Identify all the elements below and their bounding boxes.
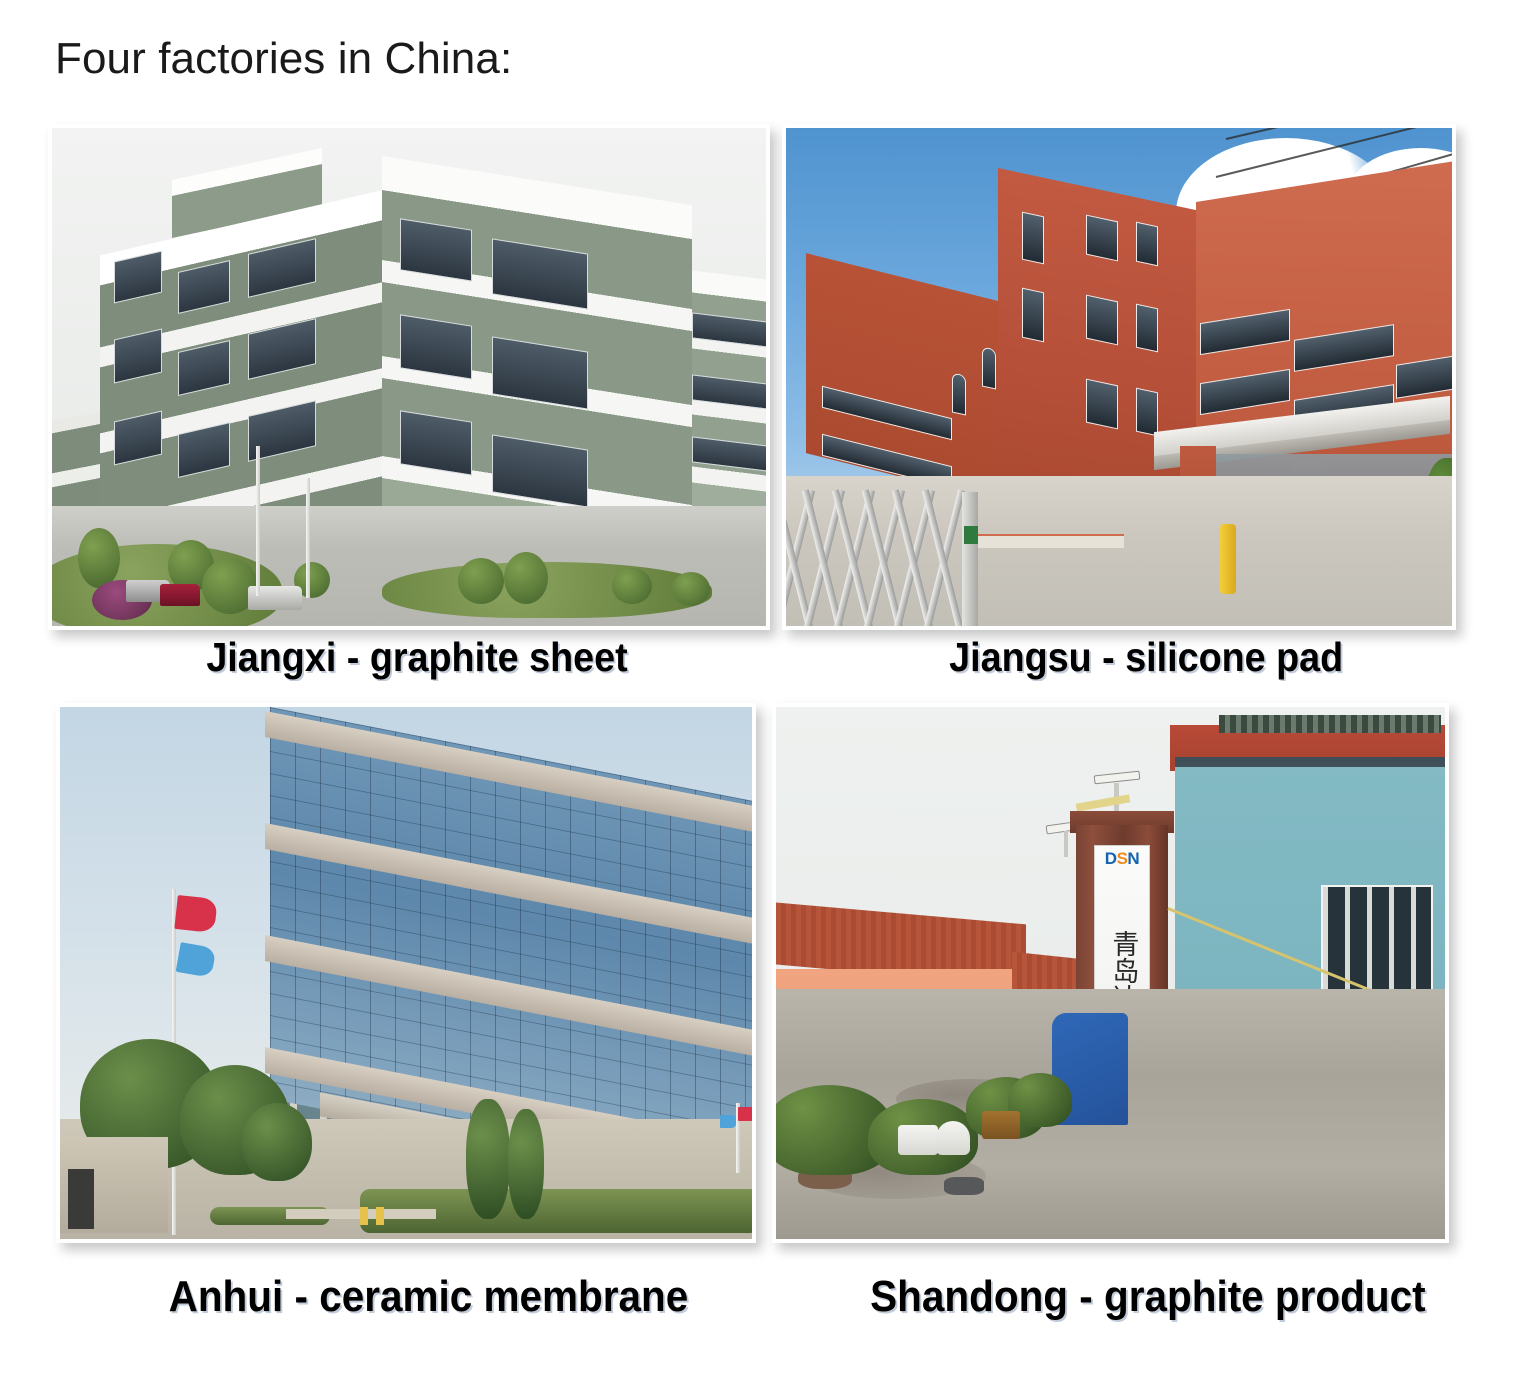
gate-post — [962, 492, 978, 626]
lamp-post — [306, 478, 310, 598]
flag-red — [738, 1107, 752, 1121]
window — [400, 314, 472, 379]
window — [1136, 304, 1158, 353]
photo-card-anhui[interactable] — [56, 703, 756, 1243]
photo-shandong: DSN 青岛达昇石墨制品 — [776, 707, 1445, 1239]
photo-anhui — [60, 707, 752, 1239]
page-title: Four factories in China: — [55, 34, 512, 84]
window — [1086, 215, 1118, 262]
white-barrel — [936, 1121, 970, 1155]
photo-card-jiangsu[interactable] — [782, 124, 1456, 630]
lamp-post — [256, 446, 260, 596]
logo-letter-d: D — [1105, 849, 1117, 868]
window — [1086, 379, 1118, 430]
debris — [944, 1177, 984, 1195]
roof-railing — [1219, 715, 1441, 733]
logo-letter-n: N — [1127, 849, 1139, 868]
caption-jiangxi: Jiangxi - graphite sheet — [206, 634, 627, 681]
caption-jiangsu: Jiangsu - silicone pad — [949, 634, 1343, 681]
caption-anhui: Anhui - ceramic membrane — [169, 1272, 689, 1322]
dsn-logo-icon: DSN — [1105, 850, 1139, 867]
caption-shandong: Shandong - graphite product — [870, 1272, 1425, 1322]
window — [400, 410, 472, 475]
photo-jiangxi — [52, 128, 766, 626]
retractable-gate — [786, 488, 976, 626]
photo-jiangsu — [786, 128, 1452, 626]
kerb — [978, 534, 1124, 548]
window — [1022, 288, 1044, 343]
window — [982, 347, 996, 390]
wall-opening — [68, 1169, 94, 1229]
window — [1136, 388, 1158, 437]
parked-car — [160, 584, 200, 606]
window — [1321, 885, 1433, 1005]
bollard — [1220, 524, 1236, 594]
window — [1022, 212, 1044, 265]
tree — [242, 1103, 312, 1181]
tree — [508, 1109, 544, 1219]
window — [952, 373, 966, 416]
shrub — [612, 568, 652, 604]
gate-indicator — [964, 526, 978, 544]
shrub — [458, 558, 504, 604]
flag-blue — [720, 1115, 736, 1128]
shrub — [78, 528, 120, 588]
window — [1136, 222, 1158, 267]
photo-card-jiangxi[interactable] — [48, 124, 770, 630]
shrub — [504, 552, 548, 604]
white-barrel — [898, 1125, 938, 1155]
flag-red — [174, 895, 217, 933]
tree — [466, 1099, 510, 1219]
bollard — [376, 1207, 384, 1225]
window — [1086, 295, 1118, 346]
photo-card-shandong[interactable]: DSN 青岛达昇石墨制品 — [772, 703, 1449, 1243]
logo-letter-s: S — [1117, 849, 1128, 868]
shrub — [672, 572, 710, 606]
cctv-mount — [1064, 831, 1068, 857]
bollard — [360, 1207, 368, 1225]
planter — [982, 1111, 1020, 1139]
